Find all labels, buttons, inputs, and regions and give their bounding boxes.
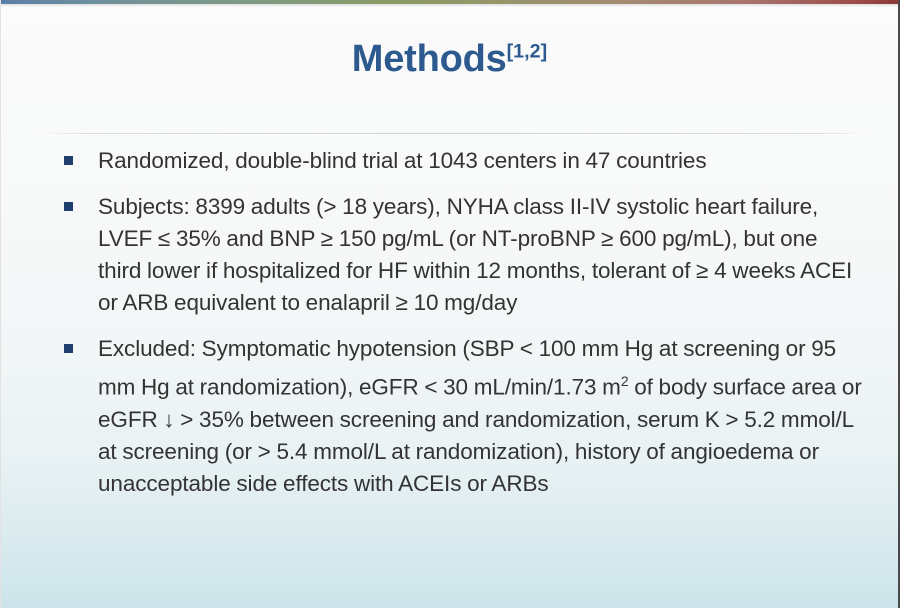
slide-canvas: Methods[1,2] Randomized, double-blind tr…: [0, 0, 900, 608]
list-item-text-segment: Subjects: 8399 adults (> 18 years), NYHA…: [98, 194, 852, 315]
top-accent-rule: [1, 0, 898, 4]
square-bullet-icon: [64, 344, 73, 353]
list-item-text: Excluded: Symptomatic hypotension (SBP <…: [98, 333, 864, 500]
title-divider-highlight: [37, 134, 870, 135]
page-title: Methods[1,2]: [1, 38, 898, 81]
bullet-list: Randomized, double-blind trial at 1043 c…: [64, 145, 864, 500]
page-title-text: Methods: [352, 38, 507, 80]
top-accent-rule-shadow: [1, 4, 898, 7]
page-title-superscript-citation: [1,2]: [507, 40, 548, 62]
square-bullet-icon: [64, 202, 73, 211]
square-bullet-icon: [64, 156, 73, 165]
list-item: Excluded: Symptomatic hypotension (SBP <…: [64, 333, 864, 500]
list-item-text: Subjects: 8399 adults (> 18 years), NYHA…: [98, 191, 864, 319]
list-item-text: Randomized, double-blind trial at 1043 c…: [98, 145, 864, 177]
list-item: Randomized, double-blind trial at 1043 c…: [64, 145, 864, 177]
list-item: Subjects: 8399 adults (> 18 years), NYHA…: [64, 191, 864, 319]
